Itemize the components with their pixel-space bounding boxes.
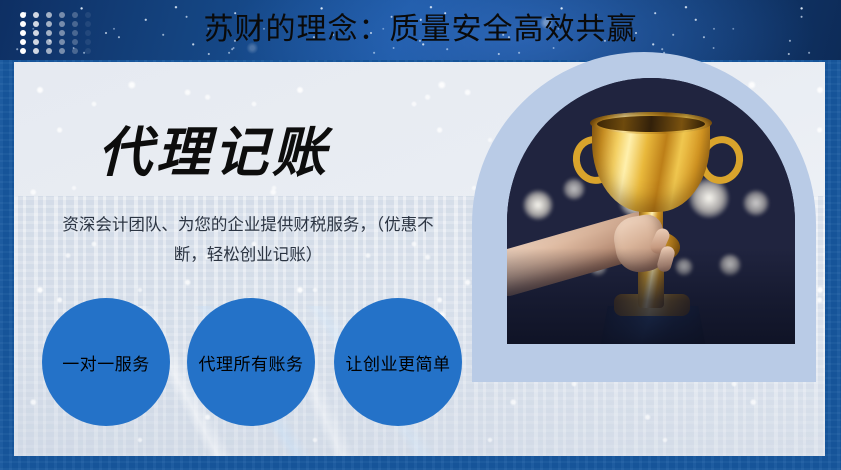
badge-circle-2[interactable]: 代理所有账务: [187, 298, 315, 426]
photo-floor-shadow: [507, 248, 795, 344]
trophy-inner-shadow: [597, 116, 705, 132]
badge-group: 一对一服务 代理所有账务 让创业更简单: [42, 298, 492, 428]
trophy-photo: [507, 78, 795, 344]
lede-paragraph: 资深会计团队、为您的企业提供财税服务，（优惠不断，轻松创业记账）: [58, 210, 438, 270]
headline: 代理记账: [98, 108, 330, 187]
badge-circle-3[interactable]: 让创业更简单: [334, 298, 462, 426]
slide-header: 苏财的理念：质量安全高效共赢: [0, 0, 841, 60]
badge-circle-1[interactable]: 一对一服务: [42, 298, 170, 426]
badge-label: 让创业更简单: [346, 350, 451, 375]
badge-label: 一对一服务: [62, 350, 150, 375]
page-title: 苏财的理念：质量安全高效共赢: [0, 0, 841, 60]
badge-label: 代理所有账务: [199, 350, 304, 375]
slide-canvas: 苏财的理念：质量安全高效共赢: [0, 0, 841, 470]
